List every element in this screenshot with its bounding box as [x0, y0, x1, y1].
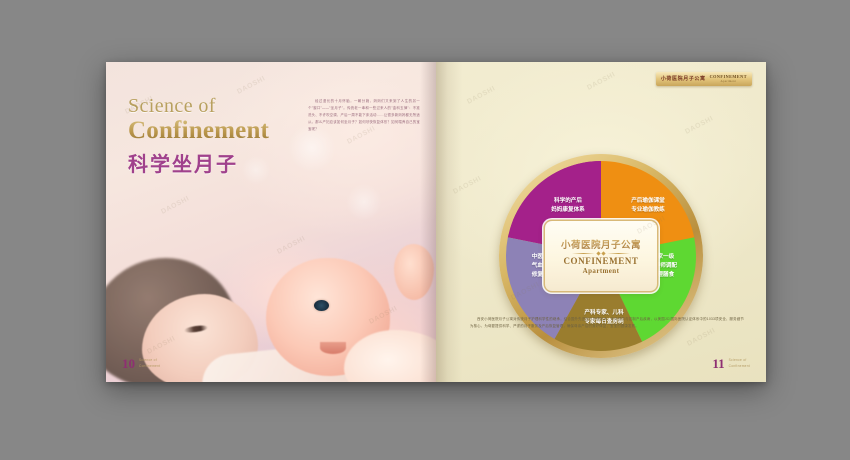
- wheel-center-logo: 小荷医院月子公寓 CONFINEMENT Apartment: [545, 221, 657, 291]
- brand-badge: 小荷医院月子公寓 CONFINEMENT Apartment: [656, 72, 752, 86]
- title-chinese: 科学坐月子: [128, 148, 318, 177]
- brand-badge-chinese: 小荷医院月子公寓: [661, 75, 706, 82]
- wheel-hub-en-line2: Apartment: [583, 267, 620, 275]
- left-page: Science of Confinement 科学坐月子 经过漫长的十月怀胎，一…: [106, 62, 436, 382]
- left-spine-shadow: [420, 62, 436, 382]
- screenshot-stage: Science of Confinement 科学坐月子 经过漫长的十月怀胎，一…: [0, 0, 850, 460]
- left-page-label-line2: Confinement: [139, 364, 160, 369]
- right-spine-shadow: [436, 62, 462, 382]
- wheel-label-magenta: 科学的产后 妈妈康复体系: [530, 197, 606, 215]
- left-page-number: 10 Science of Confinement: [122, 357, 160, 370]
- right-page-number-label: Science of Confinement: [729, 358, 750, 369]
- brand-badge-en-line2: Apartment: [721, 80, 737, 83]
- baby-eye: [314, 300, 329, 311]
- baby-mouth: [320, 342, 346, 354]
- wheel-label-orange-line1: 产后瑜伽课堂: [610, 197, 686, 206]
- right-body-copy: 西安小荷医院月子公寓对传统月子护理科学性的继承，结合国外先进医疗护理技术，有效预…: [470, 316, 744, 330]
- wheel-label-magenta-line1: 科学的产后: [530, 197, 606, 206]
- title-english-line1: Science of: [128, 96, 318, 117]
- title-english-line2: Confinement: [128, 117, 318, 145]
- right-page: 小荷医院月子公寓 CONFINEMENT Apartment: [436, 62, 766, 382]
- wheel-label-orange: 产后瑜伽课堂 专业瑜伽教练: [610, 197, 686, 215]
- right-body-paragraph: 西安小荷医院月子公寓对传统月子护理科学性的继承，结合国外先进医疗护理技术，有效预…: [470, 316, 744, 330]
- right-page-number-digit: 11: [712, 357, 724, 370]
- right-page-number: 11 Science of Confinement: [712, 357, 750, 370]
- wheel-hub-en-line1: CONFINEMENT: [563, 256, 638, 266]
- right-page-label-line2: Confinement: [729, 364, 750, 369]
- left-lead-paragraph: 经过漫长的十月怀胎，一朝分娩，妈妈们又来到了人生的另一个"窗口"——"坐月子"。…: [308, 98, 420, 133]
- left-title-block: Science of Confinement 科学坐月子: [128, 96, 318, 177]
- wheel-hub-chinese: 小荷医院月子公寓: [561, 237, 641, 251]
- left-lead-copy: 经过漫长的十月怀胎，一朝分娩，妈妈们又来到了人生的另一个"窗口"——"坐月子"。…: [308, 98, 420, 133]
- left-page-number-digit: 10: [122, 357, 135, 370]
- right-page-label-line1: Science of: [729, 358, 750, 363]
- brochure-spread: Science of Confinement 科学坐月子 经过漫长的十月怀胎，一…: [106, 62, 766, 382]
- hub-divider-ornament: [572, 252, 630, 255]
- wheel-label-orange-line2: 专业瑜伽教练: [610, 206, 686, 215]
- brand-badge-english: CONFINEMENT Apartment: [710, 75, 747, 83]
- left-page-number-label: Science of Confinement: [139, 358, 160, 369]
- wheel-label-magenta-line2: 妈妈康复体系: [530, 206, 606, 215]
- left-page-label-line1: Science of: [139, 358, 160, 363]
